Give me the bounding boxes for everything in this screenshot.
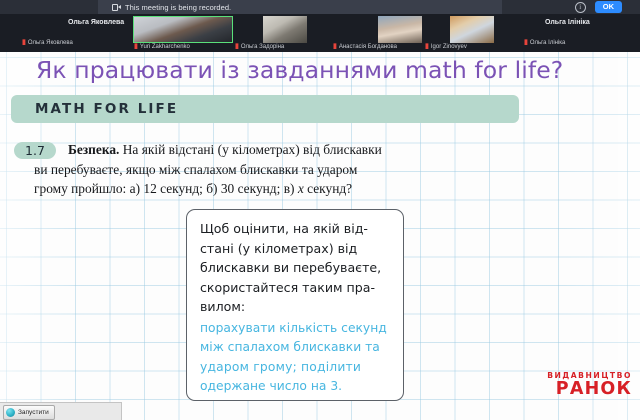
math-for-life-banner: MATH FOR LIFE [11, 95, 519, 123]
recording-notice-text: This meeting is being recorded. [125, 3, 231, 12]
task-number-badge: 1.7 [14, 142, 56, 159]
info-circle-icon[interactable]: i [575, 2, 586, 13]
task-line-1: Безпека. На якій відстані (у кілометрах)… [10, 140, 555, 160]
hint-blue-line-1: між спалахом блискавки та [200, 338, 390, 358]
muted-mic-icon: ▮ [134, 43, 138, 51]
hint-blue-line-2: ударом грому; поділити [200, 358, 390, 378]
participant-nameplate-4: ▮ Igor Zinovyev [425, 43, 467, 51]
participant-tile-2[interactable]: ▮ Ольга Задоріна [263, 16, 307, 50]
recording-notice-bar: This meeting is being recorded. [98, 0, 502, 14]
task-line-3-b: секунд? [304, 181, 352, 196]
task-line-1-text: На якій відстані (у кілометрах) від блис… [123, 142, 382, 157]
task-block: 1.7 Безпека. На якій відстані (у кіломет… [10, 140, 555, 199]
participant-display-name-0: Ольга Яковлева [68, 19, 124, 26]
participant-video-1[interactable] [133, 16, 233, 43]
participant-label-1: Yuri Zakharchenko [140, 43, 190, 51]
participant-tile-1[interactable]: ▮ Yuri Zakharchenko [133, 16, 233, 50]
hint-dark-text: Щоб оцінити, на якій від- стані (у кілом… [200, 219, 390, 317]
screen-root: This meeting is being recorded. i OK Оль… [0, 0, 640, 420]
task-line-3: грому пройшло: а) 12 секунд; б) 30 секун… [10, 179, 555, 199]
hint-dark-line-2: блискавки ви перебуваєте, [200, 258, 390, 278]
hint-dark-line-0: Щоб оцінити, на якій від- [200, 219, 390, 239]
participant-label-0: Ольга Яковлева [28, 39, 73, 47]
task-line-2: ви перебуваєте, якщо між спалахом блиска… [10, 160, 555, 180]
participant-nameplate-1: ▮ Yuri Zakharchenko [134, 43, 190, 51]
start-button-label: Запустити [18, 409, 49, 416]
hint-dark-line-1: стані (у кілометрах) від [200, 239, 390, 259]
muted-mic-icon: ▮ [425, 43, 429, 51]
participant-tile-5[interactable]: ▮ Ольга Ілініка [524, 39, 565, 47]
participant-video-3[interactable] [378, 16, 422, 43]
hint-callout-box: Щоб оцінити, на якій від- стані (у кілом… [186, 209, 404, 401]
recording-actions: i OK [575, 1, 622, 13]
participant-video-2[interactable] [263, 16, 307, 43]
participant-tile-0[interactable]: ▮ Ольга Яковлева [22, 39, 73, 47]
participant-label-2: Ольга Задоріна [241, 43, 284, 51]
hint-dark-line-3: скористайтеся таким пра- [200, 278, 390, 298]
math-for-life-banner-label: MATH FOR LIFE [35, 101, 178, 117]
participant-label-3: Анастасія Богданова [339, 43, 397, 51]
task-topic: Безпека. [68, 142, 119, 157]
participant-label-4: Igor Zinovyev [431, 43, 467, 51]
participant-nameplate-2: ▮ Ольга Задоріна [235, 43, 284, 51]
publisher-logo-bottom: РАНОК [547, 381, 632, 399]
hint-blue-line-3: одержане число на 3. [200, 377, 390, 397]
hint-rule-text: порахувати кількість секунд між спалахом… [200, 319, 390, 397]
slide-title: Як працювати із завданнями math for life… [36, 56, 616, 84]
muted-mic-icon: ▮ [524, 39, 528, 47]
ok-button[interactable]: OK [595, 1, 622, 13]
zoom-top-bar: This meeting is being recorded. i OK [0, 0, 640, 14]
participant-tile-4[interactable]: ▮ Igor Zinovyev [450, 16, 494, 50]
participant-display-name-5: Ольга Ілініка [545, 19, 590, 26]
video-camera-icon [112, 4, 121, 11]
publisher-logo: ВИДАВНИЦТВО РАНОК [547, 372, 632, 398]
task-line-3-a: грому пройшло: а) 12 секунд; б) 30 секун… [34, 181, 298, 196]
task-text: Безпека. На якій відстані (у кілометрах)… [10, 140, 555, 199]
participant-filmstrip[interactable]: Ольга Яковлева ▮ Ольга Яковлева ▮ Yuri Z… [0, 14, 640, 52]
taskbar: Запустити [0, 402, 122, 420]
participant-nameplate-3: ▮ Анастасія Богданова [333, 43, 397, 51]
muted-mic-icon: ▮ [333, 43, 337, 51]
participant-tile-3[interactable]: ▮ Анастасія Богданова [378, 16, 422, 50]
hint-blue-line-0: порахувати кількість секунд [200, 319, 390, 339]
globe-icon [6, 408, 15, 417]
participant-video-4[interactable] [450, 16, 494, 43]
participant-label-5: Ольга Ілініка [530, 39, 566, 47]
hint-dark-line-4: вилом: [200, 297, 390, 317]
muted-mic-icon: ▮ [22, 39, 26, 47]
start-button[interactable]: Запустити [3, 405, 55, 420]
muted-mic-icon: ▮ [235, 43, 239, 51]
